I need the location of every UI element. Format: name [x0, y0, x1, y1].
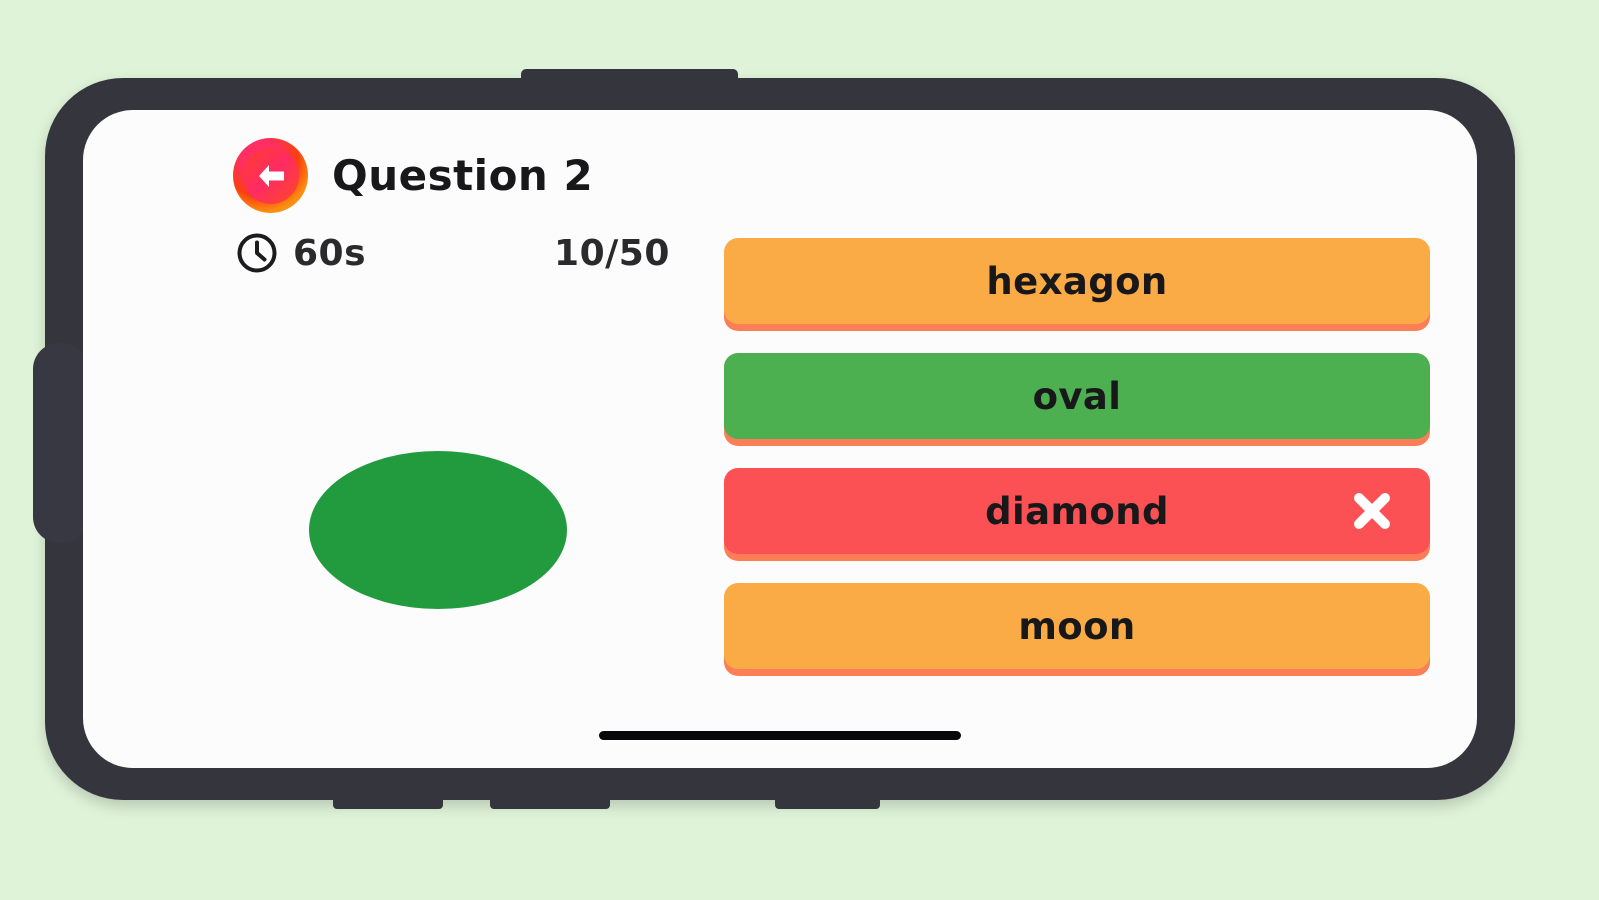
volume-down-button[interactable] — [490, 791, 610, 809]
page-title: Question 2 — [332, 151, 593, 200]
prompt-shape-area — [188, 360, 688, 700]
frame-top-notch — [521, 69, 738, 89]
answer-option-label: diamond — [985, 490, 1169, 533]
answer-option-hexagon[interactable]: hexagon — [724, 238, 1430, 324]
power-button[interactable] — [33, 343, 88, 543]
answer-option-label: oval — [1033, 375, 1122, 418]
action-button[interactable] — [775, 791, 880, 809]
progress-counter: 10/50 — [554, 233, 670, 274]
answer-option-oval[interactable]: oval — [724, 353, 1430, 439]
oval-shape-icon — [309, 451, 567, 609]
answer-option-label: moon — [1018, 605, 1135, 648]
home-indicator-bar[interactable] — [599, 731, 961, 740]
answer-option-label: hexagon — [986, 260, 1167, 303]
answer-option-diamond[interactable]: diamond — [724, 468, 1430, 554]
quiz-meta-row: 60s 10/50 — [235, 228, 670, 278]
phone-frame: Question 2 60s 10/50 hexagon oval — [45, 78, 1515, 800]
phone-screen: Question 2 60s 10/50 hexagon oval — [83, 110, 1477, 768]
app-header: Question 2 — [233, 138, 593, 213]
arrow-left-circle-icon[interactable] — [233, 138, 308, 213]
arrow-left-glyph — [251, 156, 291, 196]
x-mark-icon — [1348, 487, 1396, 535]
answer-option-moon[interactable]: moon — [724, 583, 1430, 669]
volume-up-button[interactable] — [333, 791, 443, 809]
timer-value: 60s — [293, 233, 366, 274]
answer-options-list: hexagon oval diamond moon — [724, 238, 1430, 669]
clock-icon — [235, 231, 279, 275]
timer-group: 60s — [235, 231, 366, 275]
